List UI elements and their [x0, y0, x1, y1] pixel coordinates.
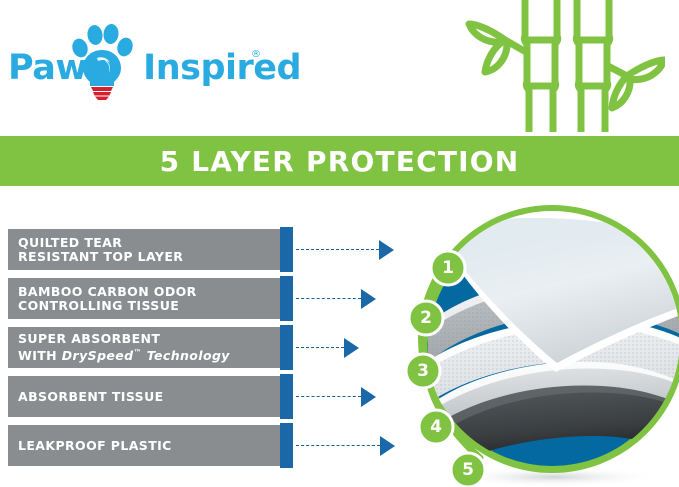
dryspeed-brand: DrySpeed	[62, 348, 134, 363]
connector-1	[296, 240, 394, 260]
bamboo-stalks-icon	[465, 0, 665, 132]
layer-label-3-prefix: WITH	[18, 348, 62, 363]
layer-bar-2: BAMBOO CARBON ODOR CONTROLLING TISSUE	[8, 278, 282, 319]
layer-label-4-line1: ABSORBENT TISSUE	[18, 390, 282, 404]
layer-row-5: LEAKPROOF PLASTIC	[8, 425, 293, 466]
layer-tab-1	[280, 227, 293, 272]
page-title: 5 LAYER PROTECTION	[160, 145, 520, 178]
arrow-1	[379, 240, 394, 260]
arrow-3	[344, 338, 359, 358]
layer-bar-5: LEAKPROOF PLASTIC	[8, 425, 282, 466]
registered-trademark-symbol: ®	[251, 49, 261, 60]
connector-4	[296, 387, 386, 407]
arrow-5	[380, 436, 395, 456]
layer-label-3-line1: SUPER ABSORBENT	[18, 332, 282, 346]
layer-label-3-suffix: Technology	[142, 348, 230, 363]
layer-tab-3	[280, 325, 293, 370]
brand-logo: PawInspired ®	[8, 22, 268, 102]
connector-2	[296, 289, 384, 309]
connector-5	[296, 436, 396, 456]
layer-tab-2	[280, 276, 293, 321]
layer-stack-diagram: 1 2 3 4 5	[404, 196, 679, 487]
layer-row-1: QUILTED TEAR RESISTANT TOP LAYER	[8, 229, 293, 270]
infographic-page: PawInspired ®	[0, 0, 679, 487]
dash-line-5	[296, 445, 380, 446]
connector-3	[296, 338, 374, 358]
layer-row-4: ABSORBENT TISSUE	[8, 376, 293, 417]
layer-label-5-line1: LEAKPROOF PLASTIC	[18, 439, 282, 453]
layer-bar-1: QUILTED TEAR RESISTANT TOP LAYER	[8, 229, 282, 270]
arrow-4	[361, 387, 376, 407]
layer-label-2-line1: BAMBOO CARBON ODOR	[18, 285, 282, 299]
layer-label-3-line2: WITH DrySpeed™ Technology	[18, 346, 282, 363]
dash-line-2	[296, 298, 361, 299]
layer-bar-4: ABSORBENT TISSUE	[8, 376, 282, 417]
layer-tab-5	[280, 423, 293, 468]
dash-line-3	[296, 347, 344, 348]
layer-tab-4	[280, 374, 293, 419]
dash-line-1	[296, 249, 379, 250]
brand-word-paw: Paw	[8, 48, 87, 88]
layer-label-1-line1: QUILTED TEAR	[18, 236, 282, 250]
brand-word-inspired: Inspired	[143, 48, 301, 88]
layer-bar-3: SUPER ABSORBENT WITH DrySpeed™ Technolog…	[8, 327, 282, 368]
dash-line-4	[296, 396, 361, 397]
layer-row-2: BAMBOO CARBON ODOR CONTROLLING TISSUE	[8, 278, 293, 319]
layer-label-1-line2: RESISTANT TOP LAYER	[18, 250, 282, 264]
layer-label-2-line2: CONTROLLING TISSUE	[18, 299, 282, 313]
arrow-2	[361, 289, 376, 309]
layer-row-3: SUPER ABSORBENT WITH DrySpeed™ Technolog…	[8, 327, 293, 368]
banner: 5 LAYER PROTECTION	[0, 136, 679, 186]
trademark-symbol: ™	[134, 348, 142, 357]
